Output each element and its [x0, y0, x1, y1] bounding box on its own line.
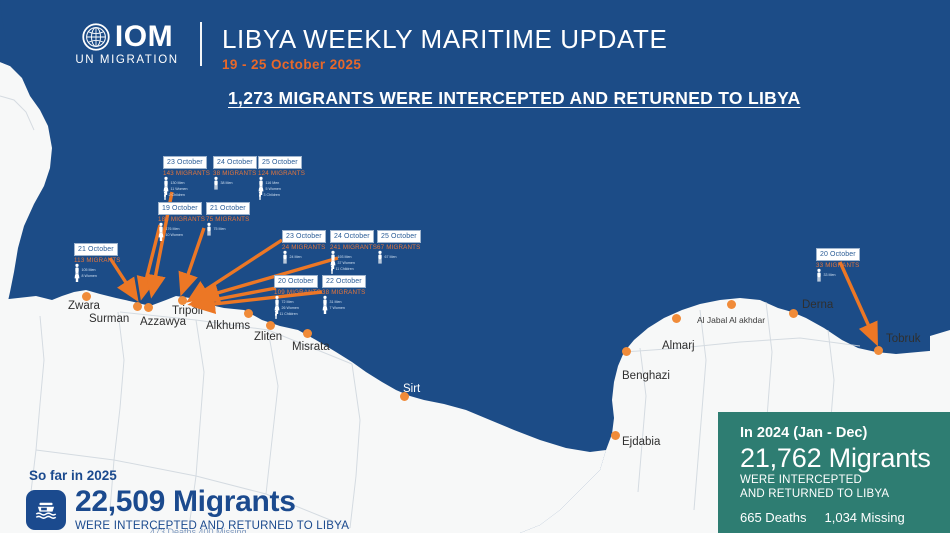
person-man-icon: [377, 250, 383, 264]
marker-pictograms: 33 Men: [816, 271, 880, 278]
marker-breakdown: 176 Men10 Women: [158, 226, 183, 238]
marker-breakdown-row: 67 Men: [377, 254, 397, 260]
marker-count: 38 MIGRANTS: [322, 289, 386, 297]
person-man-icon: [816, 268, 822, 282]
marker-pictograms: 31 Men7 Women: [322, 298, 386, 311]
marker-breakdown-row: 8 Women: [74, 273, 97, 279]
city-label: Tripoli: [172, 305, 203, 317]
iom-wordmark: IOM: [115, 22, 173, 52]
marker-breakdown: 38 Men: [213, 180, 233, 186]
marker-count: 113 MIGRANTS: [74, 257, 138, 265]
logo-row: IOM: [81, 22, 173, 52]
iom-logo[interactable]: IOM UN MIGRATION: [62, 22, 192, 66]
stat-2025-block: So far in 2025 22,509 Migrants WERE INTE…: [26, 468, 349, 533]
city-label: Misrata: [292, 341, 330, 353]
marker-breakdown: 24 Men: [282, 254, 302, 260]
page-title: LIBYA WEEKLY MARITIME UPDATE: [222, 24, 667, 54]
marker-breakdown-label: 10 Women: [166, 233, 183, 238]
marker-breakdown-row: 10 Women: [158, 232, 183, 238]
person-child-icon: [274, 310, 278, 319]
header-divider: [200, 22, 202, 66]
marker-count: 124 MIGRANTS: [258, 170, 322, 178]
headline-banner: 1,273 MIGRANTS WERE INTERCEPTED AND RETU…: [228, 88, 800, 109]
marker-breakdown-label: 8 Women: [82, 274, 97, 279]
stat-2025-row: 22,509 Migrants WERE INTERCEPTED AND RET…: [26, 486, 349, 533]
marker-breakdown-label: 26 Women: [282, 306, 299, 311]
marker-count: 75 MIGRANTS: [206, 216, 270, 224]
marker-breakdown-row: 11 Children: [274, 311, 299, 317]
city-label: Zwara: [68, 300, 100, 312]
stat-2024-description-line1: WERE INTERCEPTED: [740, 473, 950, 487]
city-dot[interactable]: [611, 431, 620, 440]
incident-marker[interactable]: 25 October67 MIGRANTS67 Men: [377, 225, 441, 260]
marker-count: 67 MIGRANTS: [377, 244, 441, 252]
marker-breakdown-label: 176 Men: [166, 227, 180, 232]
city-dot[interactable]: [178, 296, 187, 305]
person-woman-icon: [322, 302, 328, 314]
marker-breakdown-label: 193 Men: [338, 255, 352, 260]
incident-marker[interactable]: 21 October75 MIGRANTS75 Men: [206, 197, 270, 232]
stat-2025-number: 22,509 Migrants: [75, 486, 349, 518]
city-label: Al Jabal Al akhdar: [697, 315, 765, 325]
marker-breakdown-label: 67 Men: [385, 255, 397, 260]
landmass-tunisia: [0, 62, 52, 320]
marker-pictograms: 75 Men: [206, 225, 270, 232]
stat-2024-number: 21,762 Migrants: [740, 443, 950, 473]
header: IOM UN MIGRATION LIBYA WEEKLY MARITIME U…: [0, 0, 950, 82]
stat-2025-text: 22,509 Migrants WERE INTERCEPTED AND RET…: [75, 486, 349, 533]
marker-breakdown: 105 Men8 Women: [74, 267, 97, 279]
stat-2024-footer: 665 Deaths 1,034 Missing: [740, 510, 950, 525]
marker-date: 19 October: [158, 202, 202, 215]
marker-date: 22 October: [322, 275, 366, 288]
marker-breakdown-row: 7 Women: [322, 305, 345, 311]
marker-breakdown-label: 31 Men: [330, 300, 342, 305]
marker-breakdown-label: 116 Men: [266, 181, 280, 186]
stat-2025-period: So far in 2025: [29, 468, 349, 483]
city-label: Almarj: [662, 340, 695, 352]
marker-breakdown-label: 33 Men: [824, 273, 836, 278]
city-dot[interactable]: [144, 303, 153, 312]
marker-breakdown: 116 Men5 Women3 Children: [258, 180, 281, 198]
marker-breakdown-label: 7 Women: [330, 306, 345, 311]
person-man-icon: [213, 176, 219, 190]
globe-icon: [81, 22, 111, 52]
stat-2024-deaths: 665 Deaths: [740, 510, 807, 525]
infographic-canvas: ZwaraSurmanAzzawyaTripoliAlkhumsZlitenMi…: [0, 0, 950, 533]
marker-breakdown-label: 72 Men: [282, 300, 294, 305]
marker-date: 20 October: [816, 248, 860, 261]
marker-breakdown-row: 38 Men: [213, 180, 233, 186]
stat-2024-missing: 1,034 Missing: [825, 510, 905, 525]
person-man-icon: [206, 222, 212, 236]
marker-breakdown-label: 11 Children: [280, 312, 298, 317]
marker-breakdown: 31 Men7 Women: [322, 299, 345, 311]
marker-pictograms: 67 Men: [377, 253, 441, 260]
marker-date: 21 October: [74, 243, 118, 256]
city-dot[interactable]: [622, 347, 631, 356]
marker-breakdown-label: 11 Women: [171, 187, 188, 192]
marker-breakdown-label: 24 Men: [290, 255, 302, 260]
marker-breakdown-label: 130 Men: [171, 181, 185, 186]
city-label: Derna: [802, 299, 833, 311]
city-dot[interactable]: [874, 346, 883, 355]
city-dot[interactable]: [133, 302, 142, 311]
marker-breakdown-row: 33 Men: [816, 272, 836, 278]
city-label: Surman: [89, 313, 129, 325]
city-label: Zliten: [254, 331, 282, 343]
city-label: Azzawya: [140, 316, 186, 328]
city-label: Tobruk: [886, 333, 921, 345]
stat-2024-block: In 2024 (Jan - Dec) 21,762 Migrants WERE…: [718, 412, 950, 533]
marker-count: 33 MIGRANTS: [816, 262, 880, 270]
marker-breakdown-label: 37 Women: [338, 261, 355, 266]
person-man-icon: [282, 250, 288, 264]
boat-icon: [26, 490, 66, 530]
stat-2025-description: WERE INTERCEPTED AND RETURNED TO LIBYA: [75, 519, 349, 533]
marker-pictograms: 105 Men8 Women: [74, 266, 138, 279]
marker-date: 23 October: [163, 156, 207, 169]
marker-date: 24 October: [213, 156, 257, 169]
city-dot[interactable]: [672, 314, 681, 323]
city-label: Benghazi: [622, 370, 670, 382]
stat-2024-period: In 2024 (Jan - Dec): [740, 425, 950, 442]
marker-pictograms: 116 Men5 Women3 Children: [258, 179, 322, 198]
marker-breakdown: 67 Men: [377, 254, 397, 260]
city-dot[interactable]: [727, 300, 736, 309]
landmass-egypt: [930, 330, 950, 352]
marker-breakdown: 72 Men26 Women11 Children: [274, 299, 299, 317]
city-label: Alkhums: [206, 320, 250, 332]
marker-date: 25 October: [377, 230, 421, 243]
marker-breakdown-label: 5 Women: [266, 187, 281, 192]
city-label: Ejdabia: [622, 436, 660, 448]
city-dot[interactable]: [244, 309, 253, 318]
person-woman-icon: [158, 229, 164, 241]
city-dot[interactable]: [266, 321, 275, 330]
incident-marker[interactable]: 20 October33 MIGRANTS33 Men: [816, 243, 880, 278]
marker-date: 24 October: [330, 230, 374, 243]
stat-2024-description-line2: AND RETURNED TO LIBYA: [740, 487, 950, 501]
marker-breakdown-label: 38 Men: [221, 181, 233, 186]
city-dot[interactable]: [303, 329, 312, 338]
incident-marker[interactable]: 25 October124 MIGRANTS116 Men5 Women3 Ch…: [258, 151, 322, 198]
marker-date: 20 October: [274, 275, 318, 288]
date-range: 19 - 25 October 2025: [222, 57, 667, 72]
marker-date: 21 October: [206, 202, 250, 215]
person-woman-icon: [74, 270, 80, 282]
city-label: Sirt: [403, 383, 420, 395]
iom-tagline: UN MIGRATION: [75, 54, 178, 66]
incident-marker[interactable]: 22 October38 MIGRANTS31 Men7 Women: [322, 270, 386, 311]
marker-breakdown-label: 75 Men: [214, 227, 226, 232]
marker-breakdown-row: 24 Men: [282, 254, 302, 260]
incident-marker[interactable]: 21 October113 MIGRANTS105 Men8 Women: [74, 238, 138, 279]
marker-breakdown: 75 Men: [206, 226, 226, 232]
city-dot[interactable]: [789, 309, 798, 318]
marker-breakdown: 130 Men11 Women2 Children: [163, 180, 188, 198]
marker-breakdown: 33 Men: [816, 272, 836, 278]
marker-date: 25 October: [258, 156, 302, 169]
marker-date: 23 October: [282, 230, 326, 243]
title-block: LIBYA WEEKLY MARITIME UPDATE 19 - 25 Oct…: [222, 24, 667, 72]
marker-breakdown-row: 75 Men: [206, 226, 226, 232]
marker-breakdown-label: 105 Men: [82, 268, 96, 273]
